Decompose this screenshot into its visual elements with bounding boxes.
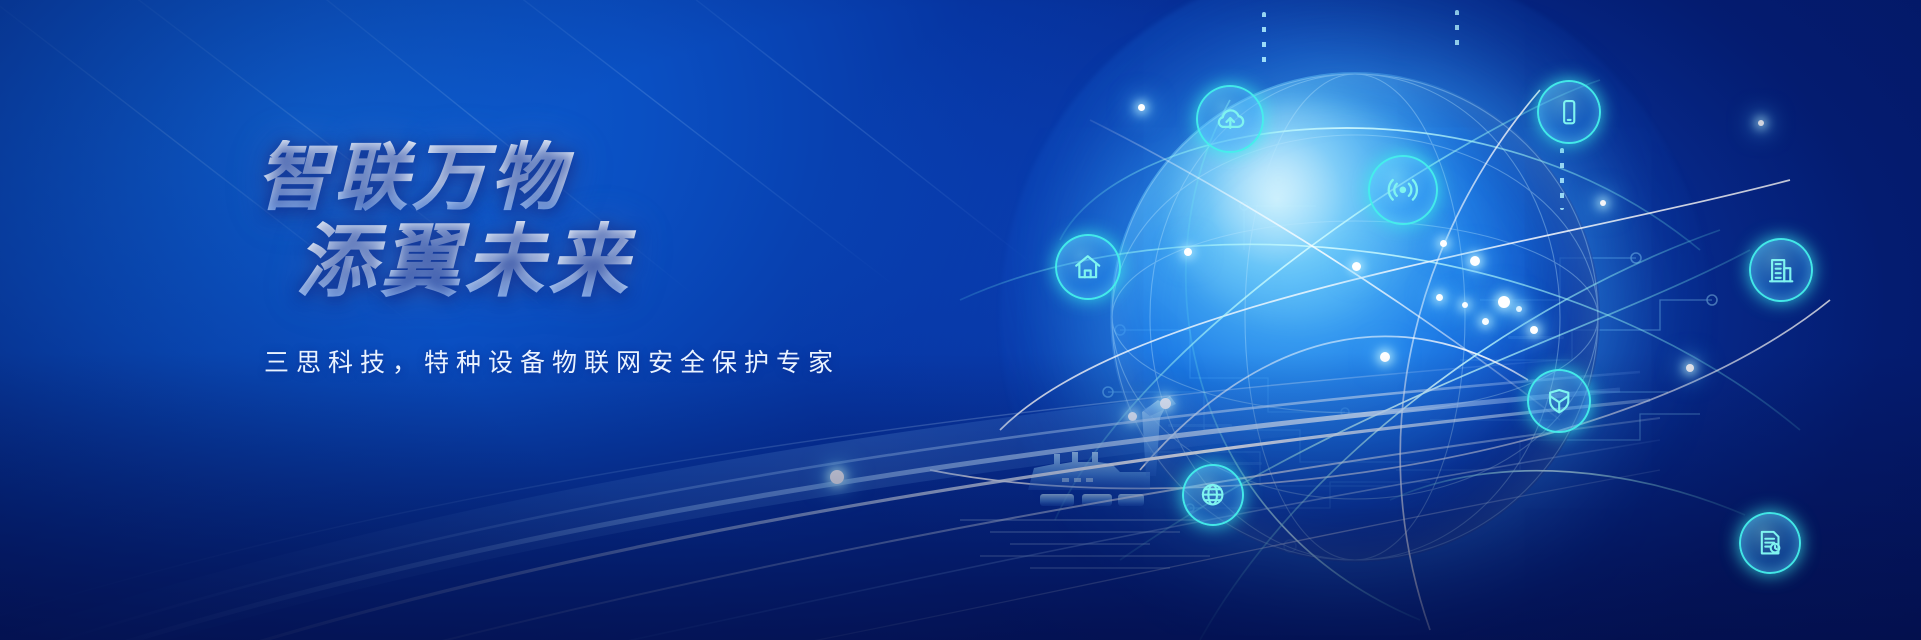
headline-line-1: 智联万物: [256, 140, 968, 215]
mobile-phone-icon[interactable]: [1537, 80, 1601, 144]
banner-subtitle: 三思科技，特种设备物联网安全保护专家: [264, 343, 968, 379]
globe-network-icon[interactable]: [1182, 464, 1244, 526]
cloud-upload-icon[interactable]: [1196, 85, 1264, 153]
shield-icon[interactable]: [1527, 369, 1591, 433]
trail-head-spark: [830, 470, 844, 484]
headline-line-2: 添翼未来: [296, 221, 968, 303]
home-icon[interactable]: [1055, 234, 1121, 300]
spark-dot: [1686, 364, 1694, 372]
report-doc-icon[interactable]: [1739, 512, 1801, 574]
spark-dot: [1600, 200, 1606, 206]
spark-dot: [1758, 120, 1764, 126]
headline-block: 智联万物 添翼未来 三思科技，特种设备物联网安全保护专家: [248, 140, 968, 379]
wifi-signal-icon[interactable]: [1368, 155, 1438, 225]
dotted-connector: [1560, 148, 1564, 210]
dotted-connector: [1262, 12, 1266, 70]
building-icon[interactable]: [1749, 238, 1813, 302]
spark-dot: [1138, 104, 1145, 111]
iot-hero-banner: 智联万物 添翼未来 三思科技，特种设备物联网安全保护专家: [0, 0, 1921, 640]
dotted-connector: [1455, 10, 1459, 50]
